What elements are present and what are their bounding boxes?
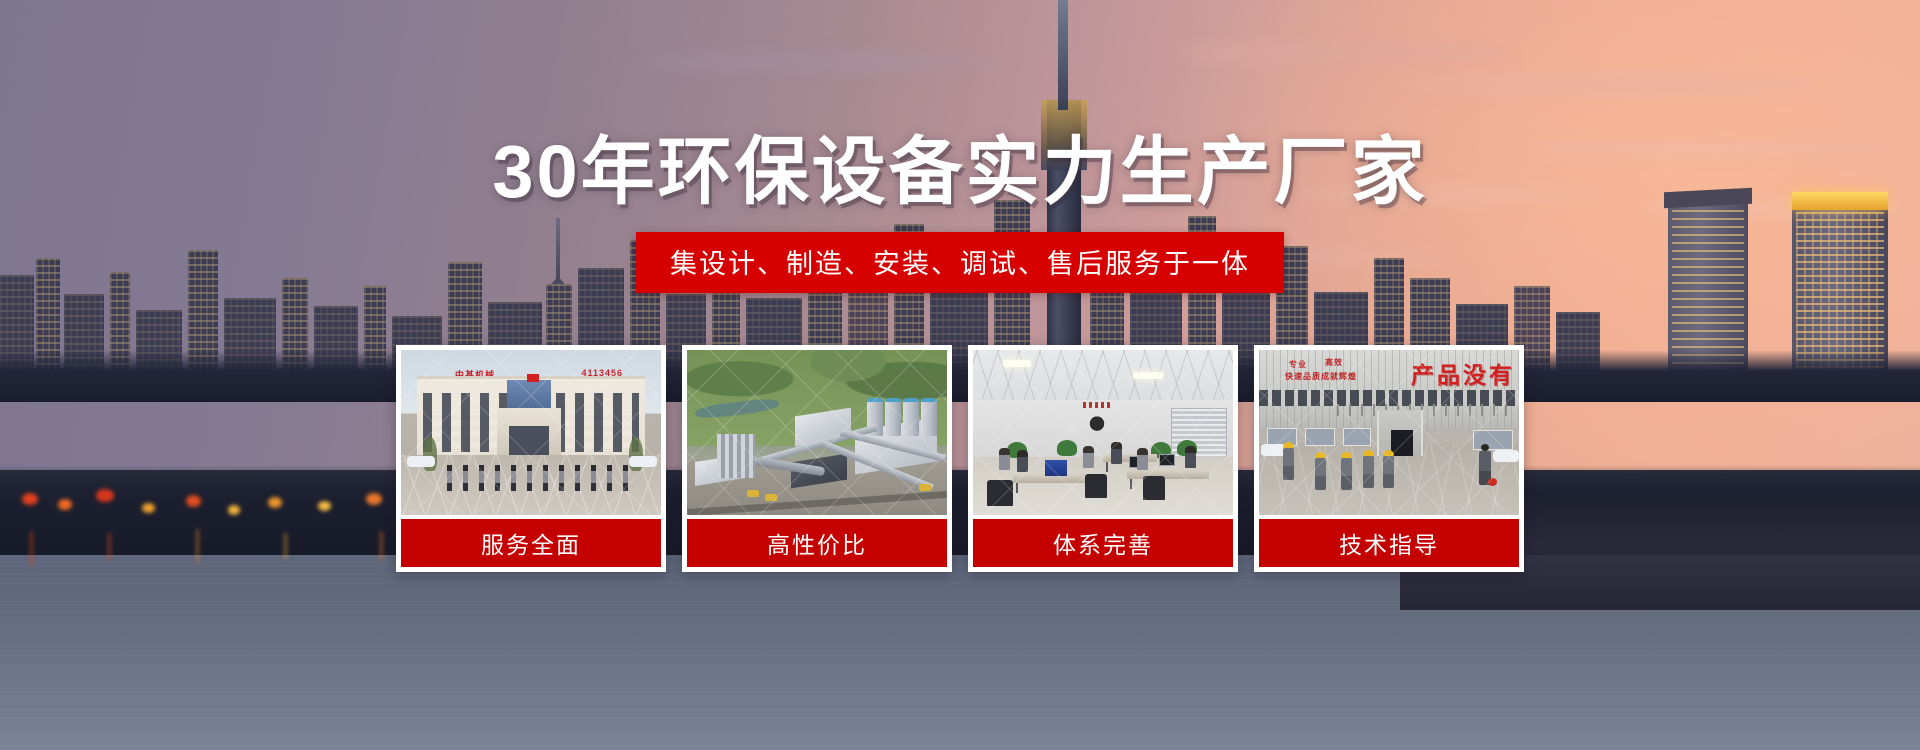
staff-figure <box>575 465 580 491</box>
wall-slogan-small-4: 成就辉煌 <box>1321 372 1357 382</box>
monitor <box>1159 454 1175 466</box>
wall-decal <box>1077 408 1117 434</box>
feature-card[interactable]: 中基机械 4113456 <box>396 345 666 572</box>
employee-figure <box>999 448 1010 470</box>
employee-figure <box>1111 442 1122 464</box>
red-helmet <box>1488 478 1497 486</box>
parked-car <box>629 456 657 467</box>
wall-slogan-small-2: 高效 <box>1325 358 1343 368</box>
feature-card[interactable]: 产品没有 专业 高效 快速品质 成就辉煌 <box>1254 345 1524 572</box>
aerial-plant-photo <box>687 350 947 515</box>
employee-figure <box>1185 446 1196 468</box>
feature-card[interactable]: 体系完善 <box>968 345 1238 572</box>
loader-machine <box>919 484 931 491</box>
employee-figure <box>1083 446 1094 468</box>
staff-figure <box>447 465 452 491</box>
parked-car <box>407 456 435 467</box>
factory-workers-photo: 产品没有 专业 高效 快速品质 成就辉煌 <box>1259 350 1519 515</box>
staff-figure <box>591 465 596 491</box>
office-interior-photo <box>973 350 1233 515</box>
flag-icon <box>527 374 539 382</box>
preheater-tower <box>717 434 755 478</box>
worker-figure <box>1341 452 1352 490</box>
page-title: 30年环保设备实力生产厂家 <box>0 112 1920 219</box>
feature-card-row: 中基机械 4113456 <box>396 345 1524 572</box>
building-entrance <box>497 408 561 456</box>
ceiling-lamp <box>1003 360 1031 367</box>
landmark-tower-antenna <box>1058 0 1068 110</box>
loader-machine <box>765 494 777 501</box>
feature-card-caption: 高性价比 <box>687 519 947 567</box>
staff-figure <box>463 465 468 491</box>
cement-silo <box>885 398 901 436</box>
office-chair <box>987 480 1013 506</box>
worker-figure <box>1383 450 1394 488</box>
staff-figure <box>495 465 500 491</box>
company-headquarters-photo: 中基机械 4113456 <box>401 350 661 515</box>
loader-machine <box>747 490 759 497</box>
feature-card-caption: 服务全面 <box>401 519 661 567</box>
cement-silo <box>903 398 919 436</box>
office-chair <box>1143 476 1165 500</box>
potted-plant <box>1057 440 1077 456</box>
factory-window <box>1343 428 1371 446</box>
feature-card-caption: 体系完善 <box>973 519 1233 567</box>
worker-figure <box>1315 452 1326 490</box>
staff-figure <box>479 465 484 491</box>
employee-figure <box>1017 450 1028 472</box>
wall-slogan-large: 产品没有 <box>1411 356 1515 390</box>
office-desk <box>1127 470 1209 479</box>
staff-figure <box>559 465 564 491</box>
staff-figure <box>511 465 516 491</box>
tv-tower-silhouette <box>556 218 560 280</box>
feature-card-caption: 技术指导 <box>1259 519 1519 567</box>
staff-figure <box>623 465 628 491</box>
ceiling-lamp <box>1133 372 1163 379</box>
staff-figure <box>543 465 548 491</box>
desk-box <box>1045 460 1067 476</box>
factory-window <box>1305 428 1335 446</box>
office-ceiling <box>973 350 1233 406</box>
subtitle-ribbon: 集设计、制造、安装、调试、售后服务于一体 <box>636 232 1284 293</box>
parked-car <box>1493 450 1519 462</box>
wall-slogan-small-1: 专业 <box>1289 360 1307 370</box>
worker-figure <box>1283 442 1294 480</box>
employee-figure <box>1137 448 1148 470</box>
staff-figure <box>607 465 612 491</box>
cement-silo <box>921 398 937 436</box>
wall-slogan-small-3: 快速品质 <box>1285 372 1321 382</box>
staff-figure <box>527 465 532 491</box>
facade-tile-row <box>1337 404 1509 416</box>
feature-card[interactable]: 高性价比 <box>682 345 952 572</box>
hero-banner: 30年环保设备实力生产厂家 集设计、制造、安装、调试、售后服务于一体 中基机械 … <box>0 0 1920 750</box>
worker-figure <box>1363 450 1374 488</box>
office-chair <box>1085 474 1107 498</box>
